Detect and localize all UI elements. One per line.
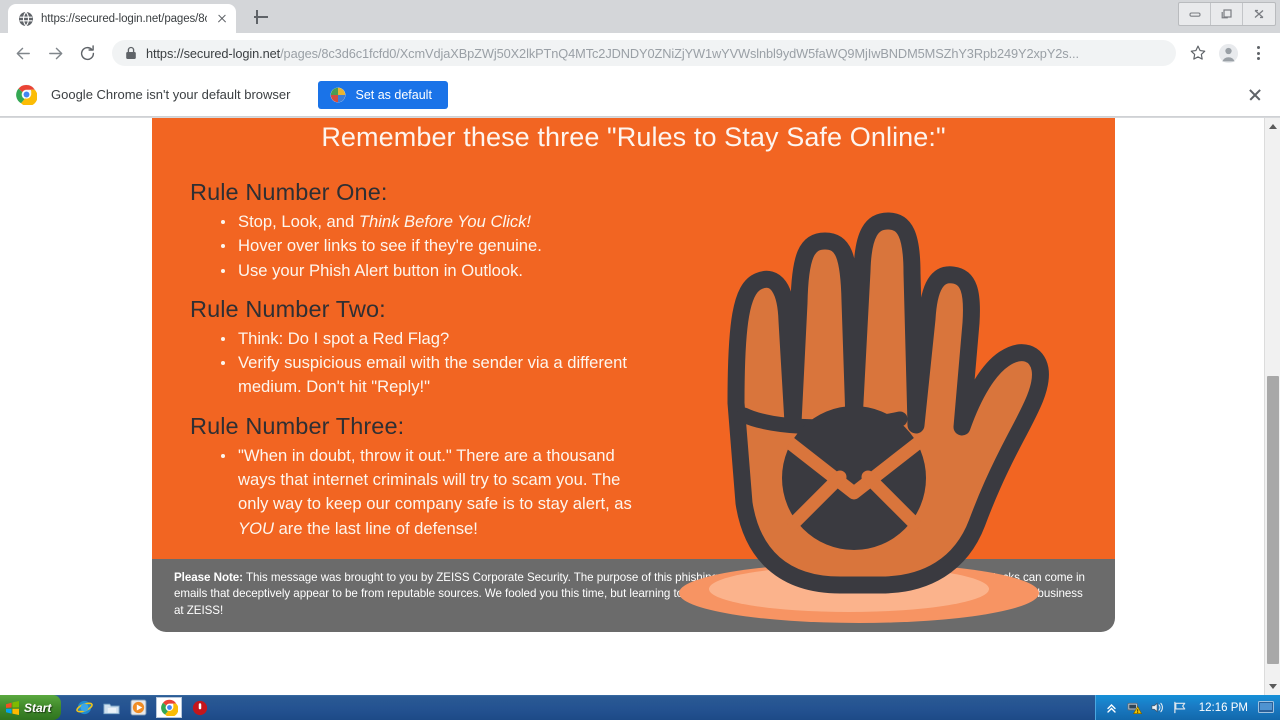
reload-icon[interactable] [72,38,102,68]
address-bar[interactable]: https://secured-login.net/pages/8c3d6c1f… [112,40,1176,66]
url-path: /pages/8c3d6c1fcfd0/XcmVdjaXBpZWj50X2lkP… [280,46,1079,61]
web-page: Remember these three "Rules to Stay Safe… [0,118,1264,695]
chrome-icon[interactable] [156,697,182,718]
system-tray: 12:16 PM [1095,695,1280,720]
infobar-message: Google Chrome isn't your default browser [51,87,290,102]
list-item: Verify suspicious email with the sender … [193,351,652,400]
windows-taskbar: Start [0,695,1280,720]
watermark-run-text: RUN [1148,637,1242,685]
bullet-tail: are the last line of defense! [274,519,478,538]
list-item: Stop, Look, and Think Before You Click! [193,210,652,234]
card-content-row: Rule Number One: Stop, Look, and Think B… [152,153,1115,541]
rule-list-one: Stop, Look, and Think Before You Click! … [193,210,652,283]
media-player-icon[interactable] [129,699,147,717]
quick-launch-bar [75,697,209,718]
folder-explorer-icon[interactable] [102,699,120,717]
start-label: Start [24,701,51,715]
globe-icon [18,11,34,27]
tab-close-icon[interactable] [214,11,230,27]
rule-heading-one: Rule Number One: [190,179,652,206]
new-tab-button[interactable] [250,6,272,28]
infobar-close-icon[interactable] [1244,84,1266,106]
stop-hand-envelope-illustration [644,193,1074,643]
artwork-column [652,153,1115,541]
rule-heading-three: Rule Number Three: [190,413,652,440]
rule-list-two: Think: Do I spot a Red Flag? Verify susp… [193,327,652,400]
page-scrollbar[interactable] [1264,118,1280,695]
volume-icon[interactable] [1150,700,1166,716]
tab-title: https://secured-login.net/pages/8c3 [41,13,207,25]
bullet-text: Stop, Look, and [238,212,359,231]
tab-strip: https://secured-login.net/pages/8c3 [0,0,1280,33]
set-as-default-button[interactable]: Set as default [318,81,447,109]
back-arrow-icon[interactable] [8,38,38,68]
scroll-up-arrow-icon[interactable] [1265,118,1280,135]
desktop-screen: https://secured-login.net/pages/8c3 [0,0,1280,720]
chevron-show-hidden-icon[interactable] [1104,700,1120,716]
awareness-card: Remember these three "Rules to Stay Safe… [152,118,1115,632]
address-bar-url: https://secured-login.net/pages/8c3d6c1f… [146,46,1079,61]
list-item: Hover over links to see if they're genui… [193,234,652,258]
play-triangle-icon [1082,633,1144,689]
scroll-down-arrow-icon[interactable] [1265,678,1280,695]
bullet-emphasis: Think Before You Click! [359,212,531,231]
rule-list-three: "When in doubt, throw it out." There are… [193,444,652,541]
browser-tab[interactable]: https://secured-login.net/pages/8c3 [8,4,236,33]
page-viewport: Remember these three "Rules to Stay Safe… [0,118,1280,695]
default-browser-infobar: Google Chrome isn't your default browser… [0,73,1280,117]
avatar-icon[interactable] [1214,39,1242,67]
bullet-text: "When in doubt, throw it out." There are… [238,446,632,514]
bullet-emphasis: YOU [238,519,274,538]
list-item: Think: Do I spot a Red Flag? [193,327,652,351]
taskbar-clock[interactable]: 12:16 PM [1196,702,1251,714]
scrollbar-thumb[interactable] [1267,376,1279,664]
restore-icon[interactable] [1211,3,1243,25]
three-dots-icon[interactable] [1244,39,1272,67]
lock-icon [125,46,137,60]
list-item: Use your Phish Alert button in Outlook. [193,259,652,283]
footer-label: Please Note: [174,571,243,584]
stop-record-icon[interactable] [191,699,209,717]
flag-icon[interactable] [1173,700,1189,716]
start-button[interactable]: Start [0,695,61,720]
minimize-icon[interactable] [1179,3,1211,25]
set-as-default-label: Set as default [355,88,431,102]
url-origin: https://secured-login.net [146,46,280,61]
star-icon[interactable] [1184,39,1212,67]
rules-column: Rule Number One: Stop, Look, and Think B… [152,153,652,541]
browser-toolbar: https://secured-login.net/pages/8c3d6c1f… [0,33,1280,73]
chrome-browser-window: https://secured-login.net/pages/8c3 [0,0,1280,695]
window-controls [1178,2,1276,26]
desktop-icon[interactable] [1258,700,1274,716]
list-item: "When in doubt, throw it out." There are… [193,444,652,541]
internet-explorer-icon[interactable] [75,699,93,717]
forward-arrow-icon[interactable] [40,38,70,68]
network-warning-icon[interactable] [1127,700,1143,716]
chrome-logo-icon [16,84,37,105]
page-headline: Remember these three "Rules to Stay Safe… [152,118,1115,153]
windows-flag-icon [5,701,20,715]
watermark-any-text: ANY [989,637,1078,685]
close-icon[interactable] [1243,3,1275,25]
shield-icon [330,87,346,103]
rule-heading-two: Rule Number Two: [190,296,652,323]
card-body: Remember these three "Rules to Stay Safe… [152,118,1115,559]
